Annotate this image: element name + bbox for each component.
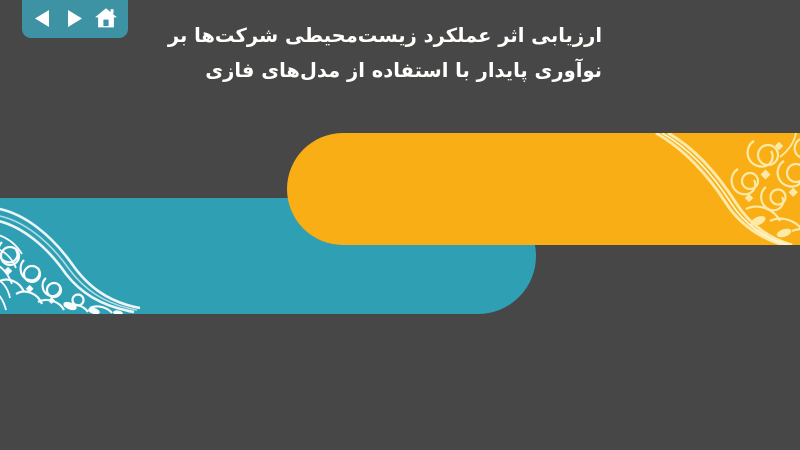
presentation-slide: ارزیابی اثر عملکرد زیست‌محیطی شرکت‌ها بر…: [0, 0, 800, 450]
slide-title: ارزیابی اثر عملکرد زیست‌محیطی شرکت‌ها بر…: [272, 18, 602, 88]
arabesque-corner-ornament-teal: [0, 198, 159, 314]
home-icon: [94, 7, 118, 29]
slide-navigation-bar: [22, 0, 128, 38]
next-slide-button[interactable]: [61, 5, 87, 31]
arabesque-corner-ornament-orange: [650, 133, 800, 245]
slide-title-line-2: نوآوری پایدار با استفاده از مدل‌های فازی: [272, 53, 602, 88]
triangle-right-icon: [66, 9, 83, 28]
home-button[interactable]: [93, 5, 119, 31]
slide-title-line-1: ارزیابی اثر عملکرد زیست‌محیطی شرکت‌ها بر: [272, 18, 602, 53]
previous-slide-button[interactable]: [29, 5, 55, 31]
triangle-left-icon: [34, 9, 51, 28]
orange-title-banner: [287, 133, 800, 245]
